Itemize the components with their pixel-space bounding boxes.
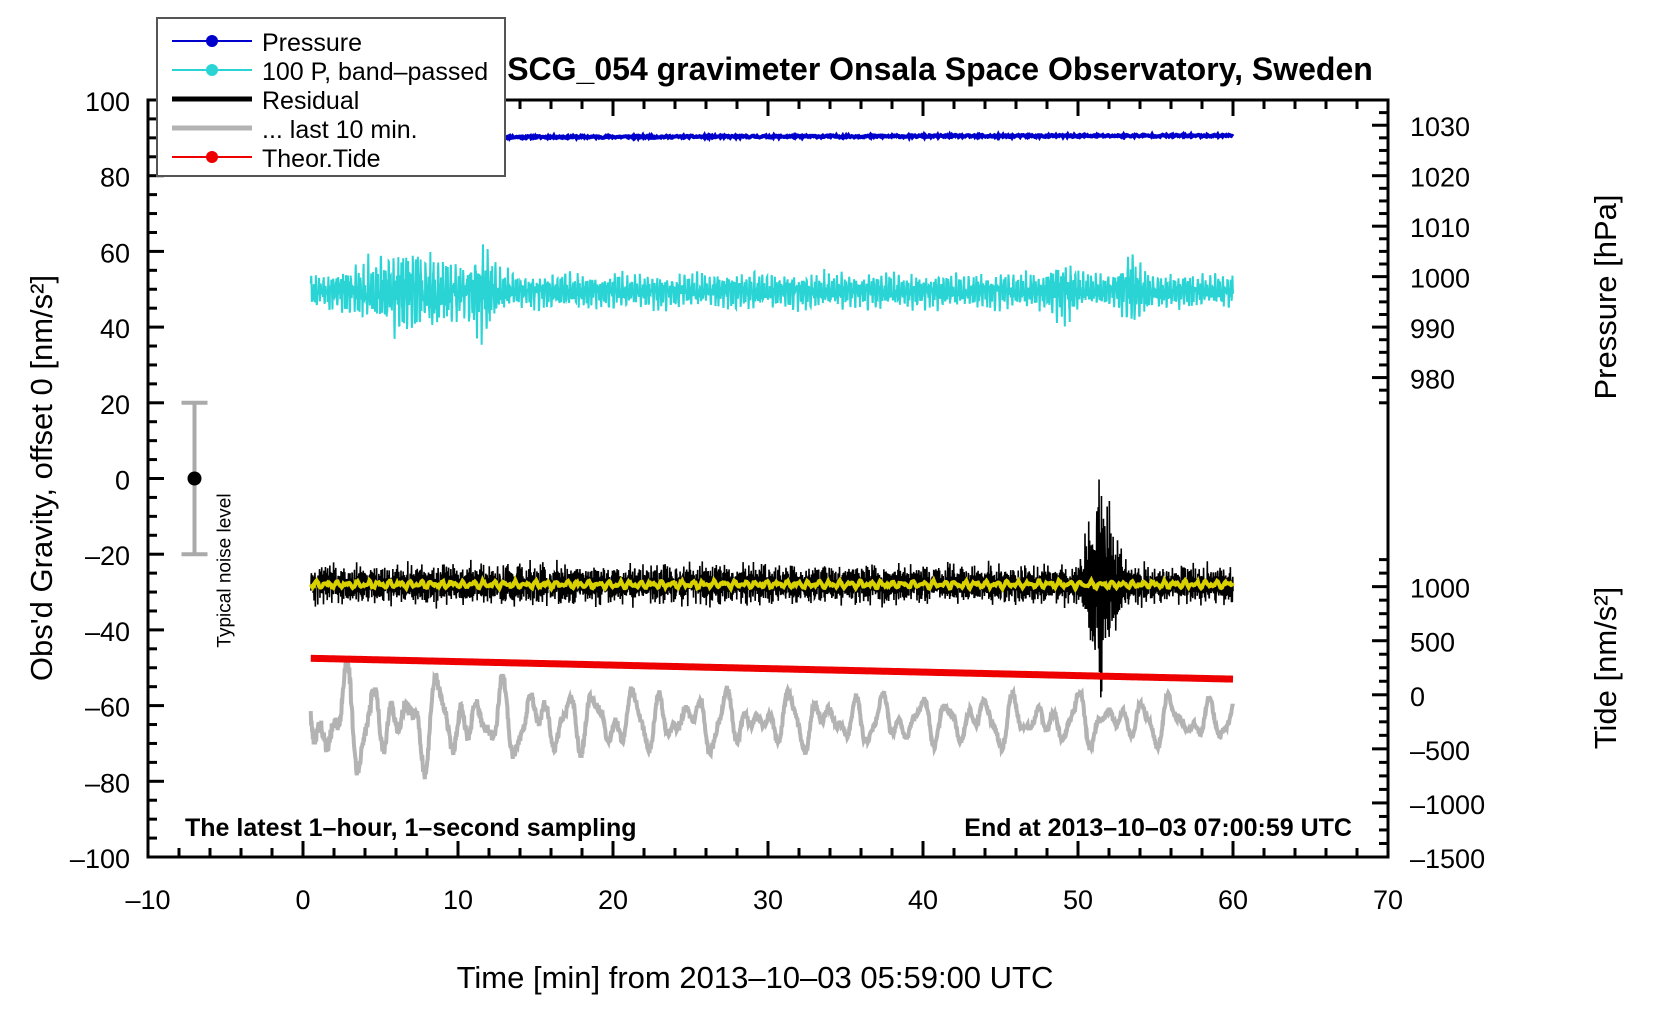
x-tick-label: 20 (598, 885, 628, 915)
x-tick-label: 0 (295, 885, 310, 915)
x-tick-label: 70 (1373, 885, 1403, 915)
y-tick-label: 40 (100, 314, 130, 344)
legend-label: 100 P, band–passed (262, 58, 488, 86)
legend-dot-icon (206, 35, 218, 47)
y-tick-label: –80 (85, 768, 130, 798)
pressure-tick-label: 1000 (1410, 264, 1470, 294)
noise-errorbar-dot (188, 472, 202, 486)
legend-dot-icon (206, 64, 218, 76)
tide-tick-label: –1000 (1410, 790, 1485, 820)
y-tick-label: 20 (100, 390, 130, 420)
x-tick-label: 30 (753, 885, 783, 915)
x-axis-title: Time [min] from 2013–10–03 05:59:00 UTC (457, 960, 1054, 995)
y-tick-label: –60 (85, 693, 130, 723)
y-tick-label: –20 (85, 541, 130, 571)
y-tick-label: 80 (100, 163, 130, 193)
x-tick-label: 40 (908, 885, 938, 915)
legend-label: Pressure (262, 29, 362, 57)
pressure-tick-label: 990 (1410, 314, 1455, 344)
y-tick-label: 0 (115, 466, 130, 496)
y-axis-pressure-title: Pressure [hPa] (1588, 194, 1623, 399)
tide-tick-label: –500 (1410, 736, 1470, 766)
x-tick-label: 60 (1218, 885, 1248, 915)
legend-dot-icon (206, 151, 218, 163)
y-tick-label: –100 (70, 844, 130, 874)
y-axis-left-title: Obs'd Gravity, offset 0 [nm/s²] (24, 275, 59, 681)
legend-label: Residual (262, 87, 359, 115)
tide-tick-label: 1000 (1410, 574, 1470, 604)
pressure-tick-label: 980 (1410, 365, 1455, 395)
gravimeter-time-series-chart: –10010203040506070 –100–80–60–40–2002040… (0, 0, 1660, 1020)
typical-noise-level-label: Typical noise level (215, 493, 236, 647)
pressure-tick-label: 1010 (1410, 213, 1470, 243)
x-tick-label: –10 (125, 885, 170, 915)
chart-title: SCG_054 gravimeter Onsala Space Observat… (507, 51, 1373, 87)
pressure-tick-label: 1030 (1410, 112, 1470, 142)
pressure-trace (505, 135, 1234, 138)
tide-tick-label: 500 (1410, 628, 1455, 658)
legend-label: Theor.Tide (262, 145, 381, 173)
y-tick-label: 60 (100, 238, 130, 268)
y-tick-label: –40 (85, 617, 130, 647)
end-time-note: End at 2013–10–03 07:00:59 UTC (964, 814, 1352, 842)
pressure-tick-label: 1020 (1410, 163, 1470, 193)
x-tick-label: 50 (1063, 885, 1093, 915)
tide-tick-label: –1500 (1410, 844, 1485, 874)
sampling-note: The latest 1–hour, 1–second sampling (185, 814, 637, 842)
chart-canvas: –10010203040506070 –100–80–60–40–2002040… (0, 0, 1660, 1020)
legend-label: ... last 10 min. (262, 116, 418, 144)
legend[interactable]: Pressure100 P, band–passedResidual... la… (157, 18, 505, 176)
y-tick-label: 100 (85, 87, 130, 117)
tide-tick-label: 0 (1410, 682, 1425, 712)
y-axis-tide-title: Tide [nm/s²] (1588, 587, 1623, 750)
x-tick-label: 10 (443, 885, 473, 915)
